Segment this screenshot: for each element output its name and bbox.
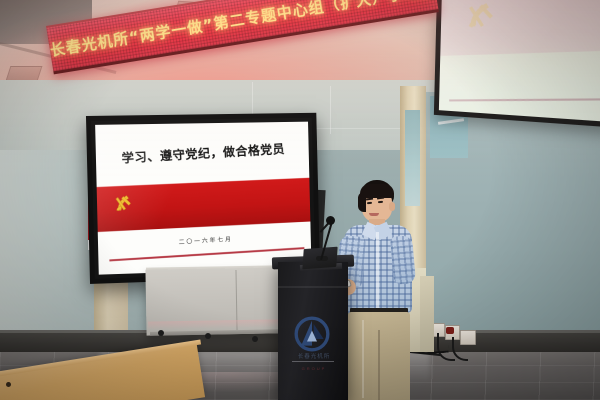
secondary-projection-screen — [434, 0, 600, 128]
caster-wheel — [158, 330, 164, 336]
caster-wheel — [252, 336, 258, 342]
trouser-crease — [362, 320, 364, 398]
trouser-seam — [378, 330, 380, 400]
microphone-icon — [326, 216, 335, 225]
slide-date: 二〇一六年七月 — [98, 229, 311, 250]
podium-brand-text: 长春光机所 — [283, 352, 345, 360]
secondary-slide-bottom — [434, 50, 600, 127]
slide-title: 学习、遵守党纪，做合格党员 — [113, 137, 293, 166]
shirt-placket — [376, 232, 379, 308]
mouth — [369, 213, 379, 216]
sleeve-check-pattern — [390, 235, 416, 285]
podium-sub-text: GROUP — [287, 366, 341, 371]
podium-bevel — [278, 286, 348, 288]
conference-room-photo: 长春光机所“两学一做”第二专题中心组（扩大）学习会 学习、遵守党纪，做合格党员 … — [0, 0, 600, 400]
beige-panel — [420, 276, 434, 352]
ear — [389, 202, 395, 211]
wall-seam — [330, 86, 331, 134]
presentation-slide: 学习、遵守党纪，做合格党员 二〇一六年七月 — [95, 122, 311, 275]
party-emblem-icon — [461, 0, 507, 37]
table-object — [6, 382, 11, 387]
speaker-person — [336, 180, 422, 400]
hair-side — [358, 192, 366, 212]
podium-logo-icon — [292, 314, 332, 354]
podium-rule — [292, 361, 334, 362]
party-emblem-icon — [112, 191, 138, 214]
caster-wheel — [205, 333, 211, 339]
